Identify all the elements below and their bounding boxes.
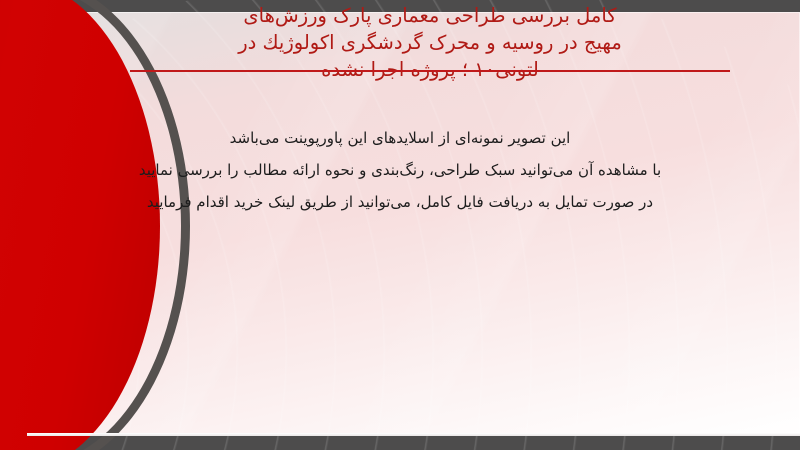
body-line-3: در صورت تمایل به دریافت فایل کامل، می‌تو… [60, 186, 740, 218]
bottom-ledge-divider [27, 433, 800, 436]
title-strikethrough-rule [130, 70, 730, 72]
title-line-3: لتونی۱۰ ؛ پروژه اجرا نشده [120, 56, 740, 83]
body-line-1: این تصویر نمونه‌ای از اسلایدهای این پاور… [60, 122, 740, 154]
slide-title: کامل بررسی طراحی معماری پارک ورزش‌های مه… [120, 2, 740, 83]
body-line-2: با مشاهده آن می‌توانید سبک طراحی، رنگ‌بن… [60, 154, 740, 186]
presentation-slide: کامل بررسی طراحی معماری پارک ورزش‌های مه… [0, 0, 800, 450]
title-line-1: کامل بررسی طراحی معماری پارک ورزش‌های [120, 2, 740, 29]
title-line-2: مهیج در روسیه و محرک گردشگری اکولوژيك در [120, 29, 740, 56]
slide-body: این تصویر نمونه‌ای از اسلایدهای این پاور… [60, 122, 740, 218]
